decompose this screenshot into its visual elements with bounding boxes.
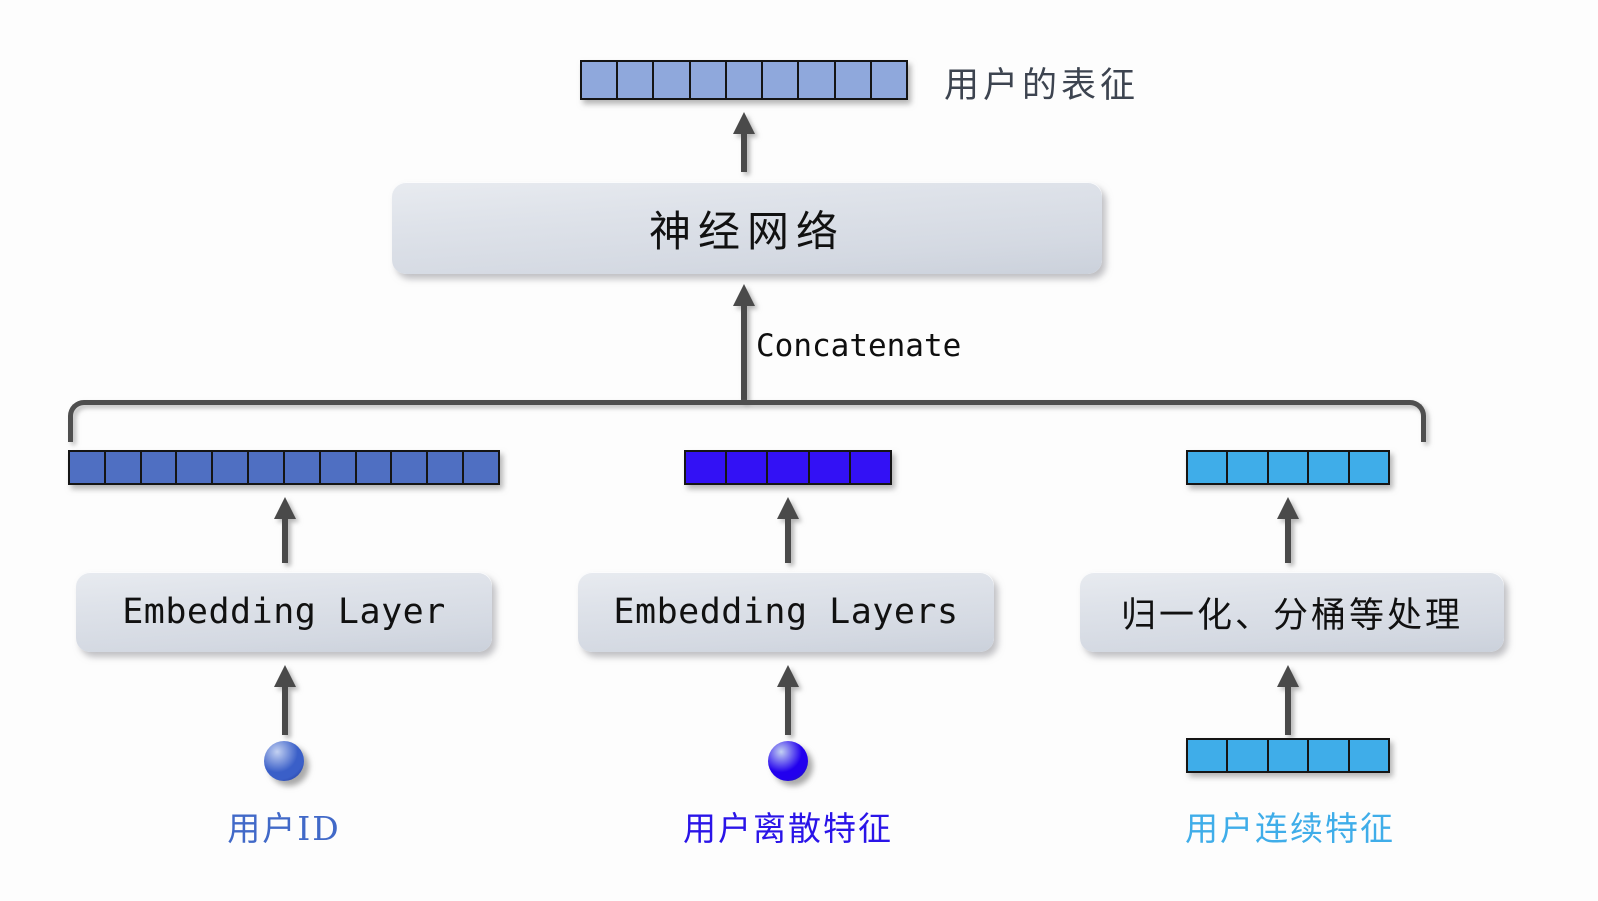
vector-cell: [768, 452, 809, 483]
neural-network-label: 神经网络: [649, 198, 845, 259]
arrow-embedding-to-vector-user-id: [272, 497, 298, 563]
vector-cell: [1188, 452, 1228, 483]
arrow-concat-to-network: [731, 284, 757, 402]
vector-cell: [357, 452, 393, 483]
normalization-bucketing-label: 归一化、分桶等处理: [1121, 587, 1463, 638]
vector-cell: [1269, 452, 1309, 483]
arrow-input-to-embedding-discrete: [775, 665, 801, 735]
arrow-embedding-to-vector-discrete: [775, 497, 801, 563]
arrow-network-to-output: [731, 112, 757, 172]
embedding-vector-user-id: [68, 450, 500, 485]
vector-cell: [1228, 740, 1268, 771]
vector-cell: [691, 62, 727, 98]
normalization-bucketing-box[interactable]: 归一化、分桶等处理: [1080, 572, 1504, 652]
embedding-vector-user-continuous-features: [1186, 450, 1390, 485]
vector-cell: [727, 62, 763, 98]
vector-cell: [1269, 740, 1309, 771]
caption-user-continuous-features: 用户连续特征: [1130, 802, 1450, 850]
vector-cell: [799, 62, 835, 98]
embedding-layer-box-discrete[interactable]: Embedding Layers: [578, 572, 994, 652]
vector-cell: [1350, 452, 1388, 483]
vector-cell: [582, 62, 618, 98]
vector-cell: [1188, 740, 1228, 771]
concatenate-bracket: [68, 400, 1426, 442]
concatenate-label: Concatenate: [756, 328, 961, 364]
vector-cell: [851, 452, 890, 483]
vector-cell: [392, 452, 428, 483]
vector-cell: [1309, 740, 1349, 771]
arrow-input-to-process-continuous: [1275, 665, 1301, 735]
user-discrete-features-node-icon: [768, 741, 808, 781]
vector-cell: [70, 452, 106, 483]
user-continuous-features-input-vector: [1186, 738, 1390, 773]
vector-cell: [836, 62, 872, 98]
arrow-input-to-embedding-user-id: [272, 665, 298, 735]
embedding-layer-box-user-id[interactable]: Embedding Layer: [76, 572, 492, 652]
vector-cell: [106, 452, 142, 483]
vector-cell: [285, 452, 321, 483]
caption-user-discrete-features: 用户离散特征: [628, 802, 948, 850]
vector-cell: [1309, 452, 1349, 483]
embedding-layer-label-discrete: Embedding Layers: [613, 592, 958, 632]
vector-cell: [727, 452, 768, 483]
vector-cell: [428, 452, 464, 483]
embedding-vector-user-discrete-features: [684, 450, 892, 485]
vector-cell: [249, 452, 285, 483]
vector-cell: [321, 452, 357, 483]
embedding-layer-label-user-id: Embedding Layer: [122, 592, 446, 632]
vector-cell: [618, 62, 654, 98]
vector-cell: [686, 452, 727, 483]
vector-cell: [213, 452, 249, 483]
vector-cell: [177, 452, 213, 483]
vector-cell: [142, 452, 178, 483]
vector-cell: [1350, 740, 1388, 771]
diagram-canvas: 用户的表征 神经网络 Concatenate Embedding Layer 用…: [0, 0, 1598, 901]
vector-cell: [464, 452, 498, 483]
user-id-node-icon: [264, 741, 304, 781]
vector-cell: [763, 62, 799, 98]
neural-network-box[interactable]: 神经网络: [392, 182, 1102, 274]
vector-cell: [654, 62, 690, 98]
vector-cell: [1228, 452, 1268, 483]
vector-cell: [872, 62, 906, 98]
caption-user-id: 用户ID: [124, 802, 444, 850]
vector-cell: [810, 452, 851, 483]
arrow-process-to-vector-continuous: [1275, 497, 1301, 563]
user-representation-vector: [580, 60, 908, 100]
user-representation-label: 用户的表征: [944, 57, 1139, 108]
